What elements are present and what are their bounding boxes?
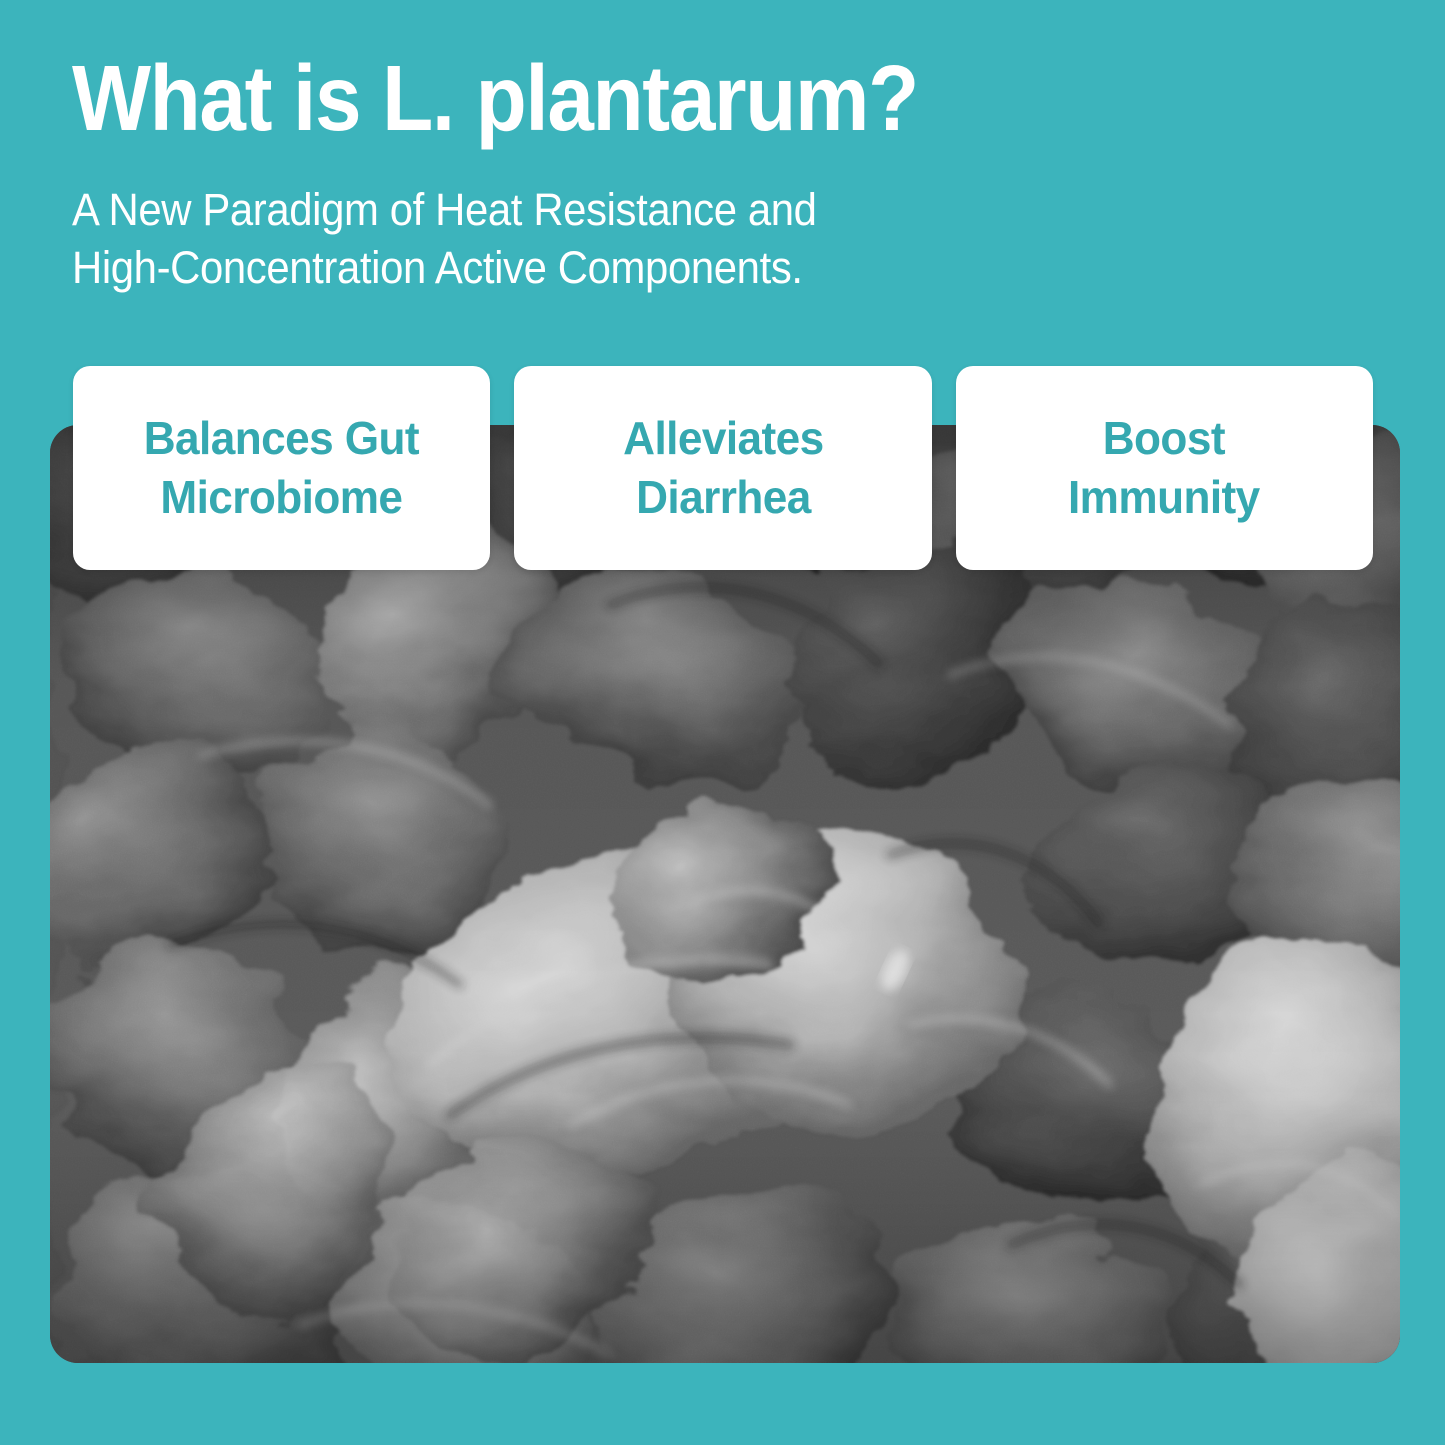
feature-card-label: Balances Gut Microbiome	[144, 409, 419, 527]
feature-card-balances-gut-microbiome[interactable]: Balances Gut Microbiome	[73, 366, 490, 570]
page-subtitle: A New Paradigm of Heat Resistance and Hi…	[72, 181, 1281, 296]
feature-card-alleviates-diarrhea[interactable]: Alleviates Diarrhea	[514, 366, 931, 570]
feature-card-label: Alleviates Diarrhea	[623, 409, 823, 527]
feature-card-label: Boost Immunity	[1068, 409, 1260, 527]
feature-cards-row: Balances Gut Microbiome Alleviates Diarr…	[73, 366, 1373, 570]
header: What is L. plantarum? A New Paradigm of …	[72, 52, 1372, 296]
page-title: What is L. plantarum?	[72, 52, 1242, 145]
infographic-root: What is L. plantarum? A New Paradigm of …	[0, 0, 1445, 1445]
feature-card-boost-immunity[interactable]: Boost Immunity	[956, 366, 1373, 570]
